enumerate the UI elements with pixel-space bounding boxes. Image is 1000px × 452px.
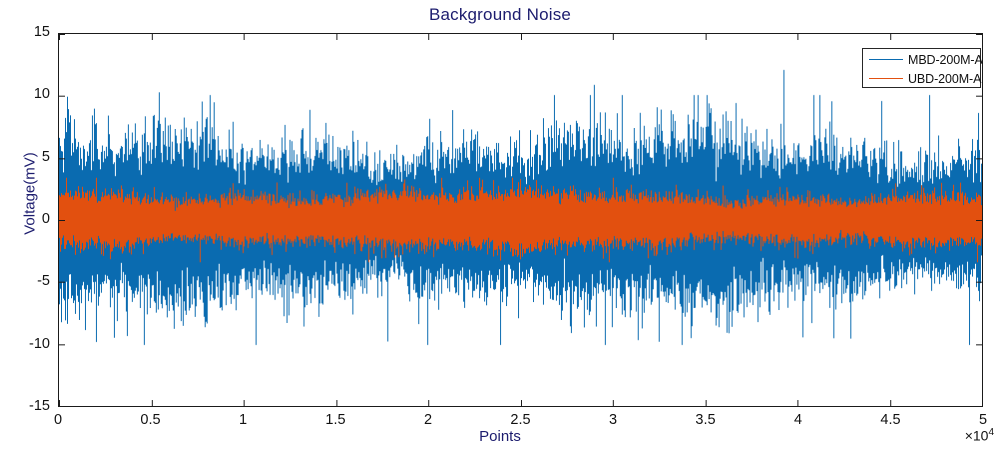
x-tick-label: 0 <box>23 412 93 428</box>
x-tick-label: 1.5 <box>301 412 371 428</box>
x-tick-label: 4.5 <box>856 412 926 428</box>
x-tick-label: 2.5 <box>486 412 556 428</box>
x-tick-label: 4 <box>763 412 833 428</box>
legend-item-ubd[interactable]: UBD-200M-A <box>863 69 982 88</box>
y-tick-label: -5 <box>4 273 50 289</box>
x-tick-label: 1 <box>208 412 278 428</box>
y-tick-label: -10 <box>4 336 50 352</box>
plot-area <box>58 33 983 407</box>
page-title: Background Noise <box>0 5 1000 25</box>
legend-line-swatch-mbd <box>869 59 903 61</box>
legend-item-mbd[interactable]: MBD-200M-A <box>863 50 982 69</box>
y-tick-label: 0 <box>4 211 50 227</box>
y-tick-label: 10 <box>4 86 50 102</box>
x-tick-label: 5 <box>948 412 1000 428</box>
y-axis-label: Voltage(mV) <box>22 94 39 294</box>
x-tick-label: 3 <box>578 412 648 428</box>
y-tick-label: 15 <box>4 24 50 40</box>
x-axis-exponent: ×104 <box>965 427 994 444</box>
legend-line-swatch-ubd <box>869 78 903 80</box>
x-tick-label: 0.5 <box>116 412 186 428</box>
x-tick-label: 3.5 <box>671 412 741 428</box>
legend-box[interactable]: MBD-200M-A UBD-200M-A <box>862 48 981 88</box>
x-axis-exponent-base: ×10 <box>965 428 989 444</box>
y-tick-label: 5 <box>4 149 50 165</box>
noise-waveform-plot <box>59 34 982 406</box>
figure-canvas: Background Noise MBD-200M-A UBD-200M-A V… <box>0 0 1000 452</box>
x-axis-label: Points <box>0 428 1000 445</box>
x-tick-label: 2 <box>393 412 463 428</box>
legend-label-ubd: UBD-200M-A <box>908 72 981 86</box>
legend-label-mbd: MBD-200M-A <box>908 53 983 67</box>
x-axis-exponent-power: 4 <box>988 427 994 438</box>
